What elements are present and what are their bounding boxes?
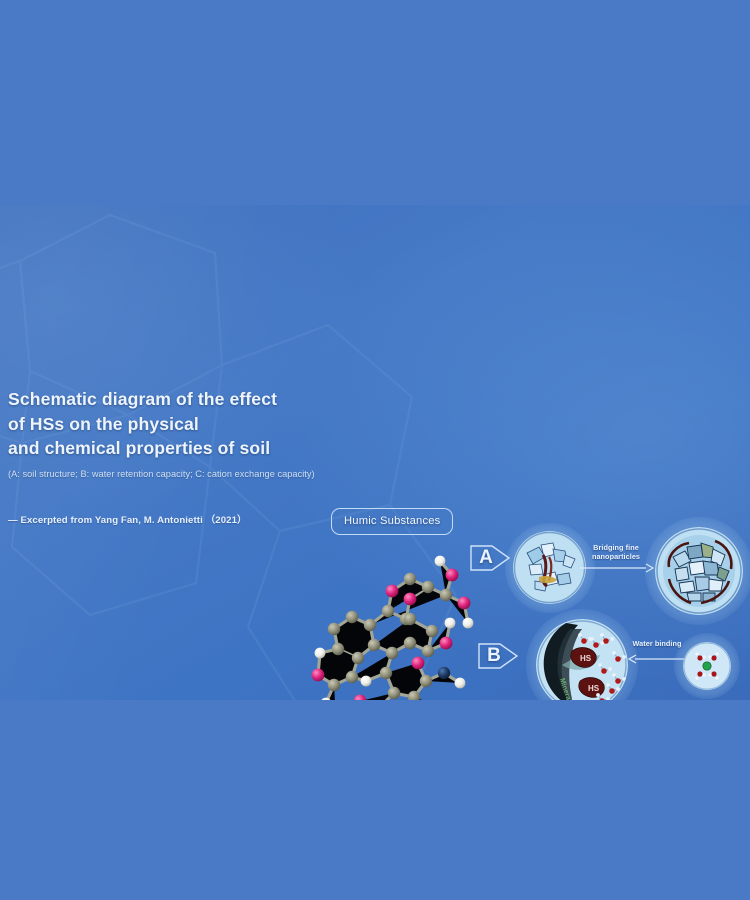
title-line-2: of HSs on the physical xyxy=(8,412,348,437)
panel-a-right-aggregate xyxy=(655,527,743,615)
marker-b-water-retention: B xyxy=(476,635,520,677)
caption-water-binding: Water binding xyxy=(627,639,687,648)
svg-text:HS: HS xyxy=(588,684,600,693)
arrow-left-icon-b xyxy=(628,653,684,665)
figure-subtitle: (A: soil structure; B: water retention c… xyxy=(8,468,348,481)
figure-credit: — Excerpted from Yang Fan, M. Antonietti… xyxy=(8,512,348,526)
arrow-right-icon-a xyxy=(580,561,654,575)
panel-b-right-hydrated-cation xyxy=(683,642,731,690)
bottom-margin-band xyxy=(0,700,750,900)
figure-panel: Humic Substances Schematic diagram of th… xyxy=(0,205,750,700)
humic-substances-label: Humic Substances xyxy=(331,508,453,535)
top-margin-band xyxy=(0,0,750,205)
figure-text-block: Schematic diagram of the effect of HSs o… xyxy=(8,387,348,526)
poster-canvas: Humic Substances Schematic diagram of th… xyxy=(0,0,750,900)
title-line-1: Schematic diagram of the effect xyxy=(8,387,348,412)
title-line-3: and chemical properties of soil xyxy=(8,436,348,461)
marker-a-soil-structure: A xyxy=(468,537,512,579)
humic-substance-molecule-model xyxy=(300,525,490,700)
panel-a-left-nanoparticles xyxy=(513,531,586,604)
svg-text:HS: HS xyxy=(580,654,592,663)
marker-a-letter: A xyxy=(473,543,499,573)
caption-bridging-fine-nanoparticles: Bridging fine nanoparticles xyxy=(583,543,649,561)
panel-b-left-water-retention: HS HS Mineral xyxy=(536,619,628,700)
marker-b-letter: B xyxy=(481,641,507,671)
page-title: Schematic diagram of the effect of HSs o… xyxy=(8,387,348,461)
